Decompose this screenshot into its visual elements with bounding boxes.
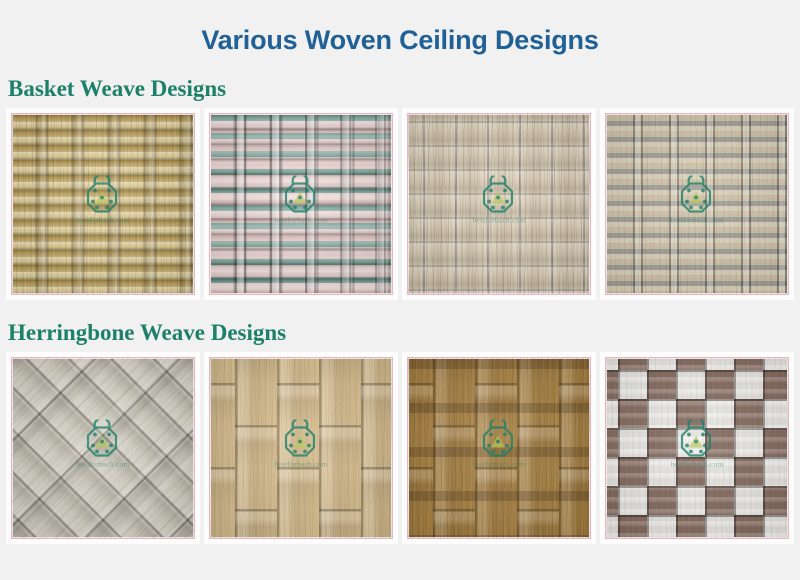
image-card-pale-grey-diagonal-herringbone[interactable]: bestforbach.com	[6, 352, 200, 544]
image-card-brown-white-block-weave[interactable]: bestforbach.com	[600, 352, 794, 544]
section-heading-herringbone: Herringbone Weave Designs	[0, 300, 800, 344]
gallery-row-basket: bestforbach.com	[0, 100, 800, 300]
image-frame: bestforbach.com	[11, 113, 195, 295]
weave-vertical-straps	[211, 115, 391, 293]
image-card-golden-rattan-basket-weave[interactable]: bestforbach.com	[6, 108, 200, 300]
image-frame: bestforbach.com	[407, 113, 591, 295]
image-frame: bestforbach.com	[11, 357, 195, 539]
image-card-dark-brown-bamboo-herringbone[interactable]: bestforbach.com	[402, 352, 596, 544]
weave-vertical-straps	[607, 115, 787, 293]
image-card-natural-bamboo-basket-weave[interactable]: bestforbach.com	[402, 108, 596, 300]
image-frame: bestforbach.com	[209, 113, 393, 295]
image-frame: bestforbach.com	[209, 357, 393, 539]
gallery-row-herringbone: bestforbach.com	[0, 344, 800, 544]
weave-pattern-pale-grey-herringbone	[13, 359, 193, 537]
image-card-light-bamboo-parquet-herringbone[interactable]: bestforbach.com	[204, 352, 398, 544]
weave-texture	[13, 115, 193, 293]
weave-pattern-brown-white-block	[607, 359, 787, 537]
weave-pattern-natural-bamboo	[409, 115, 589, 293]
weave-dark-bands	[409, 359, 589, 537]
image-card-grey-beige-tight-weave[interactable]: bestforbach.com	[600, 108, 794, 300]
image-frame: bestforbach.com	[407, 357, 591, 539]
image-card-pink-teal-basket-weave[interactable]: bestforbach.com	[204, 108, 398, 300]
weave-pattern-light-bamboo-parquet	[211, 359, 391, 537]
image-frame: bestforbach.com	[605, 357, 789, 539]
page-title: Various Woven Ceiling Designs	[0, 0, 800, 54]
image-frame: bestforbach.com	[605, 113, 789, 295]
section-heading-basket: Basket Weave Designs	[0, 54, 800, 100]
page-root: Various Woven Ceiling Designs Basket Wea…	[0, 0, 800, 580]
